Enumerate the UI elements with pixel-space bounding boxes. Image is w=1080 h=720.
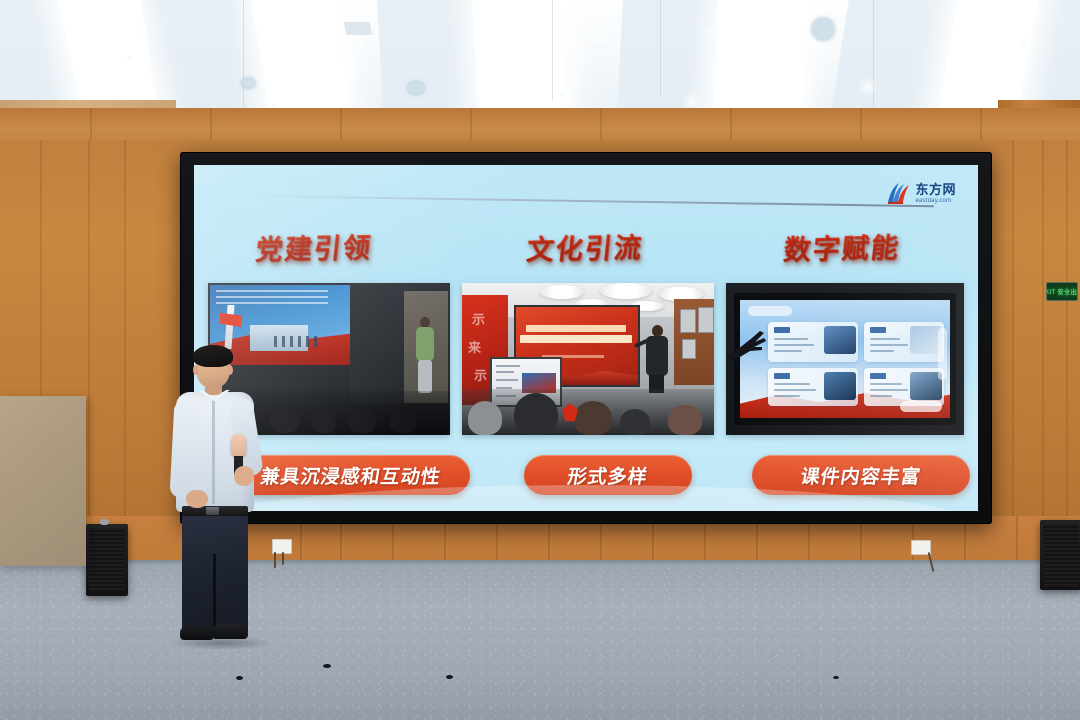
photo1-standing-person: [414, 317, 436, 393]
ceiling-light-strip: [713, 0, 808, 122]
power-cable: [282, 552, 284, 565]
heading-party-building: 党建引领: [254, 226, 374, 267]
floor-item: [446, 675, 453, 679]
presenter-shoe-right: [212, 624, 248, 639]
slide-headings: 党建引领 文化引流 数字赋能: [194, 227, 978, 279]
exit-sign-label: EXIT 安全出口: [1046, 287, 1078, 296]
screenshot-root: EXIT 安全出口 东方网 eastday.com: [0, 0, 1080, 720]
photo-digital-courseware-display: [726, 283, 964, 435]
photo3-section-tag: [748, 306, 792, 316]
speaker-cabinet-left: [86, 524, 128, 596]
eastday-logo: 东方网 eastday.com: [885, 181, 956, 205]
photo2-presenter: [644, 325, 670, 393]
acoustic-panel: [0, 396, 86, 566]
eastday-logo-mark-icon: [885, 181, 911, 205]
led-video-wall[interactable]: 东方网 eastday.com 党建引领 文化引流 数字赋能: [180, 152, 992, 524]
microphone-icon: [231, 434, 246, 456]
photo2-audience: [462, 389, 714, 435]
power-cable: [274, 552, 276, 568]
photo3-side-tab: [938, 328, 947, 380]
photo3-more-button[interactable]: [900, 401, 942, 412]
photo3-pointing-arm: [726, 327, 770, 363]
ceiling-light-strip: [254, 0, 350, 122]
logo-chinese-text: 东方网: [915, 183, 956, 196]
photo1-overlay-caption: [216, 290, 328, 304]
pill-rich-content[interactable]: 课件内容丰富: [752, 455, 970, 495]
photo3-card: [768, 322, 858, 362]
heading-digital-empowerment: 数字赋能: [782, 226, 902, 267]
floor-item: [236, 676, 243, 680]
speaker-cabinet-right: [1040, 520, 1080, 590]
floor-item: [323, 664, 331, 668]
logo-domain-text: eastday.com: [915, 198, 956, 204]
ceiling-speaker-icon: [812, 18, 834, 40]
floor-item: [833, 676, 839, 679]
photo3-card: [864, 322, 944, 362]
ceiling-downlight-icon: [242, 78, 255, 88]
presenter-shoe-left: [180, 626, 214, 640]
slide-divider-line: [244, 195, 934, 207]
emergency-exit-sign: EXIT 安全出口: [1046, 282, 1078, 301]
led-screen-surface[interactable]: 东方网 eastday.com 党建引领 文化引流 数字赋能: [194, 165, 978, 511]
slide-photo-row: 示 来 示: [208, 283, 964, 435]
photo3-card: [768, 368, 858, 406]
presenter-person: [160, 348, 270, 650]
heading-culture-flow: 文化引流: [525, 226, 645, 267]
ceiling-downlight-icon: [408, 82, 424, 94]
photo-lecture-hall-digital-course: 示 来 示: [462, 283, 714, 435]
